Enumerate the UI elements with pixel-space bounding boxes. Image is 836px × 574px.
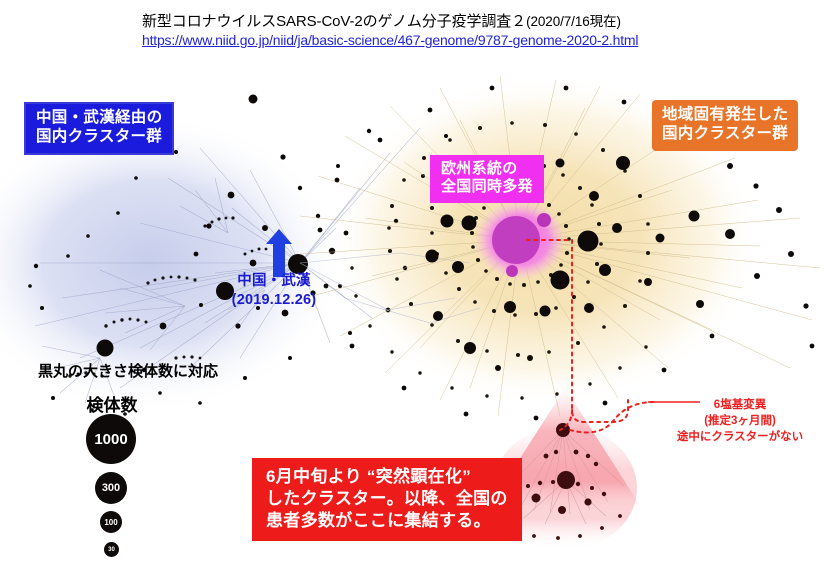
wuhan-origin-arrow-icon (266, 229, 292, 277)
node-large (97, 340, 114, 357)
page-title: 新型コロナウイルスSARS-CoV-2のゲノム分子疫学調査２(2020/7/16… (142, 10, 621, 31)
legend-size-100: 100 (100, 511, 122, 533)
figure-root: 新型コロナウイルスSARS-CoV-2のゲノム分子疫学調査２(2020/7/16… (0, 0, 836, 574)
page-title-main: 新型コロナウイルスSARS-CoV-2のゲノム分子疫学調査２ (142, 13, 526, 30)
callout-european-lineage: 欧州系統の 全国同時多発 (430, 155, 544, 203)
legend-subheading: 検体数 (74, 391, 150, 416)
node-large (557, 471, 575, 489)
page-title-date: (2020/7/16現在) (526, 14, 621, 29)
node-large (578, 231, 599, 252)
legend-heading: 黒丸の大きさ検体数に対応 (38, 360, 218, 381)
legend-size-30: 30 (104, 542, 119, 557)
mutation-annotation: 6塩基変異 (推定3ヶ月間) 途中にクラスターがない (650, 398, 830, 446)
magenta-core-node (492, 216, 540, 264)
legend-size-1000: 1000 (86, 414, 136, 464)
magenta-satellite-node (537, 213, 551, 227)
wuhan-origin-label: 中国・武漢 (2019.12.26) (196, 272, 352, 309)
node-large (551, 271, 570, 290)
legend-size-300: 300 (95, 472, 127, 504)
callout-june-emergence: 6月中旬より “突然顕在化” したクラスター。以降、全国の 患者多数がここに集結… (252, 458, 522, 541)
magenta-satellite-node (506, 265, 518, 277)
source-url-link[interactable]: https://www.niid.go.jp/niid/ja/basic-sci… (142, 32, 638, 48)
callout-wuhan-derived-clusters: 中国・武漢経由の 国内クラスター群 (24, 102, 174, 155)
callout-regional-clusters: 地域固有発生した 国内クラスター群 (652, 100, 798, 151)
